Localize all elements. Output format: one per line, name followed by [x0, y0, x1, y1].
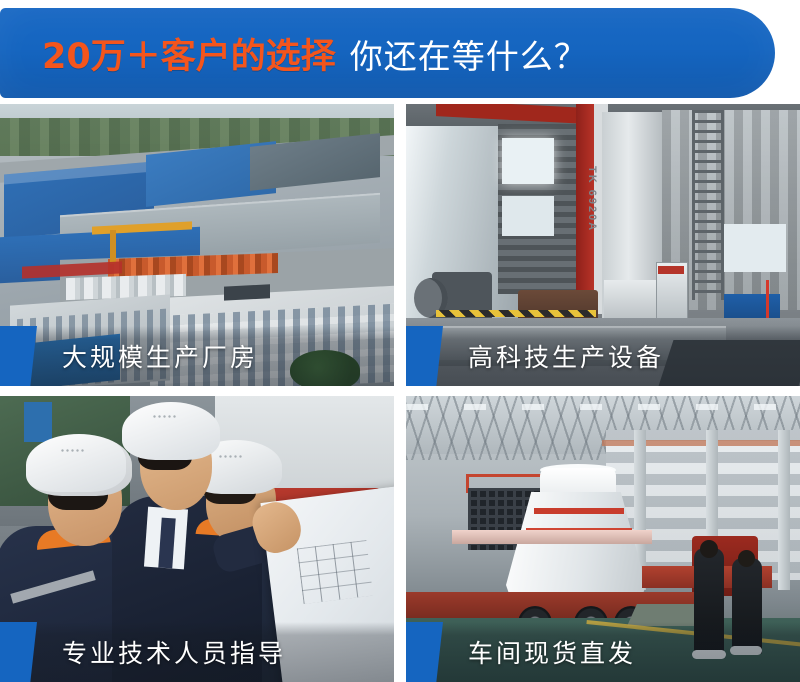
machine-model-label: TK 6920A	[582, 166, 598, 266]
crane-column	[110, 230, 116, 264]
hardhat-vent-dots	[152, 414, 178, 420]
vertical-ladder	[692, 110, 724, 300]
headline-question: 你还在等什么？	[350, 30, 588, 78]
photo-grid: 大规模生产厂房 TK 6920A	[0, 104, 800, 682]
gallery-item-in-stock-direct-shipping[interactable]: 车间现货直发	[406, 396, 800, 682]
caption-tab-icon	[0, 622, 37, 682]
hazard-stripe	[436, 310, 596, 317]
ceiling-lights	[406, 404, 800, 410]
background-blue-sign	[24, 402, 52, 442]
headline-banner: 20万＋客户的选择 你还在等什么？	[0, 8, 775, 98]
window-right	[724, 224, 786, 272]
gallery-item-professional-guidance[interactable]: 专业技术人员指导	[0, 396, 394, 682]
window-lower	[502, 196, 554, 236]
hardhat-vent-dots	[218, 454, 244, 460]
caption-label: 大规模生产厂房	[62, 338, 258, 374]
caption-tab-icon	[406, 326, 443, 386]
window-upper	[502, 138, 554, 184]
hardhat-center	[122, 402, 220, 460]
caption-bar: 大规模生产厂房	[0, 326, 394, 386]
blueprint-drawing-lines	[297, 540, 373, 604]
caption-tab-icon	[406, 622, 443, 682]
rooftop-unit	[224, 284, 270, 300]
hardhat-vent-dots	[60, 448, 86, 454]
headline-text-group: 20万＋客户的选择 你还在等什么？	[0, 28, 588, 79]
caption-bar: 车间现货直发	[406, 622, 800, 682]
caption-bar: 专业技术人员指导	[0, 622, 394, 682]
promo-banner-page: 20万＋客户的选择 你还在等什么？	[0, 0, 800, 682]
caption-label: 专业技术人员指导	[62, 634, 286, 670]
headline-highlight: 20万＋客户的选择	[42, 28, 336, 79]
cabinet-red-strip	[658, 266, 684, 274]
visitor-head-b	[738, 550, 755, 567]
caption-label: 车间现货直发	[468, 634, 636, 670]
caption-tab-icon	[0, 326, 37, 386]
caption-label: 高科技生产设备	[468, 338, 664, 374]
gallery-item-large-scale-workshop[interactable]: 大规模生产厂房	[0, 104, 394, 386]
caption-bar: 高科技生产设备	[406, 326, 800, 386]
crusher-red-band	[534, 508, 624, 514]
support-pillar	[778, 430, 790, 590]
hardhat-left	[26, 434, 132, 496]
machine-support-deck	[452, 530, 652, 544]
visitor-head-a	[700, 540, 718, 558]
overhead-red-beam	[602, 440, 800, 446]
gallery-item-high-tech-equipment[interactable]: TK 6920A 高科技生产设备	[406, 104, 800, 386]
